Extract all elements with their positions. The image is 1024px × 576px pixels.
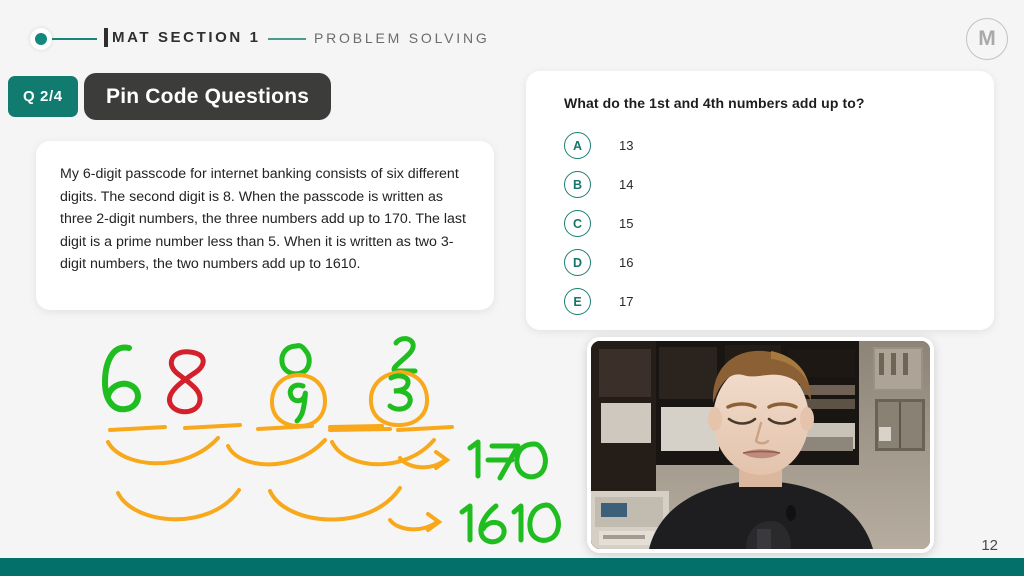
answer-option-d[interactable]: D 16	[564, 243, 994, 282]
ink-arcs-three-digit-groups	[118, 488, 400, 520]
option-letter-e: E	[564, 288, 591, 315]
page-number: 12	[981, 537, 998, 554]
ink-digit-4	[290, 385, 305, 421]
answer-option-b[interactable]: B 14	[564, 165, 994, 204]
answer-option-a[interactable]: A 13	[564, 126, 994, 165]
ink-digit-6	[390, 376, 410, 409]
progress-dot-icon	[35, 33, 47, 45]
ink-digit-6-above	[394, 339, 415, 371]
question-text: My 6-digit passcode for internet banking…	[60, 163, 468, 276]
answer-options-card: What do the 1st and 4th numbers add up t…	[526, 71, 994, 330]
option-value-a: 13	[619, 138, 633, 153]
ink-sum-170	[470, 442, 545, 478]
header-section-title: MAT SECTION 1	[112, 29, 261, 46]
question-counter-badge: Q 2/4	[8, 76, 78, 117]
option-letter-c: C	[564, 210, 591, 237]
ink-arrow-to-1610	[390, 514, 439, 530]
slide-header: MAT SECTION 1 PROBLEM SOLVING M	[0, 0, 1024, 70]
ink-circle-slot-6	[371, 372, 427, 425]
header-title-accent-bar	[104, 28, 108, 47]
header-topic-label: PROBLEM SOLVING	[314, 30, 490, 46]
ink-digit-1	[105, 347, 138, 409]
ink-digit-4-above	[282, 346, 309, 374]
answer-prompt: What do the 1st and 4th numbers add up t…	[564, 95, 994, 111]
answer-option-e[interactable]: E 17	[564, 282, 994, 321]
footer-bar	[0, 558, 1024, 576]
handwritten-annotation-layer	[0, 330, 600, 560]
presenter-webcam-feed	[587, 337, 934, 553]
answer-option-c[interactable]: C 15	[564, 204, 994, 243]
slide-root: MAT SECTION 1 PROBLEM SOLVING M Q 2/4 Pi…	[0, 0, 1024, 576]
annotation-canvas	[0, 330, 600, 560]
option-letter-a: A	[564, 132, 591, 159]
progress-dot-marker	[30, 28, 52, 50]
option-value-b: 14	[619, 177, 633, 192]
question-card: My 6-digit passcode for internet banking…	[36, 141, 494, 310]
webcam-image	[591, 341, 930, 549]
lesson-title-badge: Pin Code Questions	[84, 73, 331, 120]
header-divider-line-left	[52, 38, 97, 40]
option-letter-d: D	[564, 249, 591, 276]
ink-arcs-two-digit-groups	[108, 438, 434, 464]
option-value-c: 15	[619, 216, 633, 231]
ink-digit-2	[169, 352, 203, 412]
ink-sum-1610	[462, 505, 558, 542]
option-value-e: 17	[619, 294, 633, 309]
brand-logo-icon: M	[966, 18, 1008, 60]
answer-options-list: A 13 B 14 C 15 D 16 E 17	[564, 126, 994, 321]
header-divider-line-right	[268, 38, 306, 40]
option-value-d: 16	[619, 255, 633, 270]
option-letter-b: B	[564, 171, 591, 198]
